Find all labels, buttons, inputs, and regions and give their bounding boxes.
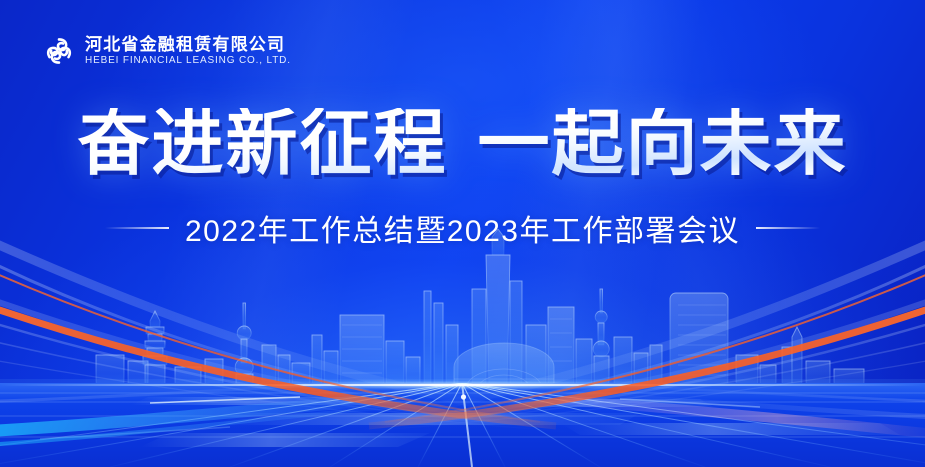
brand-logo[interactable]: 河北省金融租赁有限公司 HEBEI FINANCIAL LEASING CO.,… <box>42 34 291 68</box>
hero-subtitle: 2022年工作总结暨2023年工作部署会议 <box>185 206 740 250</box>
main-title: 奋进新征程一起向未来 <box>77 108 847 181</box>
brand-name-en: HEBEI FINANCIAL LEASING CO., LTD. <box>85 55 291 66</box>
brand-name-block: 河北省金融租赁有限公司 HEBEI FINANCIAL LEASING CO.,… <box>85 36 291 66</box>
hero-subtitle-row: 2022年工作总结暨2023年工作部署会议 <box>0 206 925 250</box>
main-title-part1: 奋进新征程 <box>77 104 447 184</box>
pinwheel-logo-icon <box>42 34 76 68</box>
perspective-grid-floor <box>0 383 925 467</box>
subtitle-deco-line-left <box>105 227 169 229</box>
subtitle-deco-line-right <box>756 227 820 229</box>
conference-banner: 河北省金融租赁有限公司 HEBEI FINANCIAL LEASING CO.,… <box>0 0 925 467</box>
brand-name-cn: 河北省金融租赁有限公司 <box>85 36 291 54</box>
main-title-part2: 一起向未来 <box>478 104 848 184</box>
hero-title-area: 奋进新征程一起向未来 <box>0 108 925 181</box>
city-skyline-silhouette <box>0 229 925 389</box>
